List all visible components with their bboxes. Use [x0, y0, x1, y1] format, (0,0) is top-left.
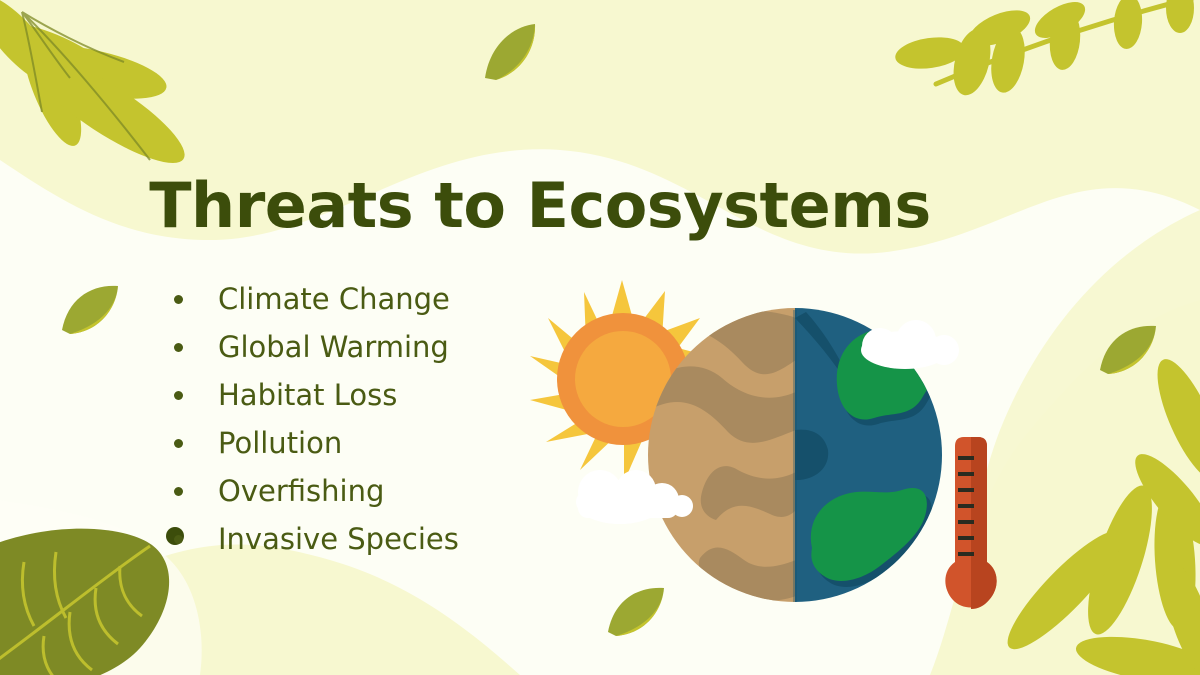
list-item: Pollution: [160, 419, 580, 467]
list-item: Habitat Loss: [160, 371, 580, 419]
list-item-label: Pollution: [218, 426, 342, 460]
globe-divider: [793, 310, 797, 602]
list-item: Overfishing: [160, 467, 580, 515]
list-item: Climate Change: [160, 275, 580, 323]
cloud-right: [861, 320, 959, 369]
list-item-label: Overfishing: [218, 474, 384, 508]
bullet-dot-icon: [174, 343, 183, 352]
list-item-label: Invasive Species: [218, 522, 459, 556]
bullet-dot-icon: [174, 439, 183, 448]
thermometer-icon: [945, 437, 996, 609]
list-item-label: Global Warming: [218, 330, 449, 364]
list-item-label: Climate Change: [218, 282, 450, 316]
thermometer-ticks: [958, 458, 974, 554]
bullet-dot-icon: [174, 295, 183, 304]
list-item-label: Habitat Loss: [218, 378, 397, 412]
bullet-dot-icon: [174, 487, 183, 496]
page-title: Threats to Ecosystems: [0, 172, 1080, 240]
list-item: Global Warming: [160, 323, 580, 371]
list-item: Invasive Species: [160, 515, 580, 563]
threats-list: Climate Change Global Warming Habitat Lo…: [160, 275, 580, 563]
slide-canvas: Threats to Ecosystems Climate Change Glo…: [0, 0, 1200, 675]
bullet-dot-icon: [174, 535, 183, 544]
bullet-dot-icon: [174, 391, 183, 400]
